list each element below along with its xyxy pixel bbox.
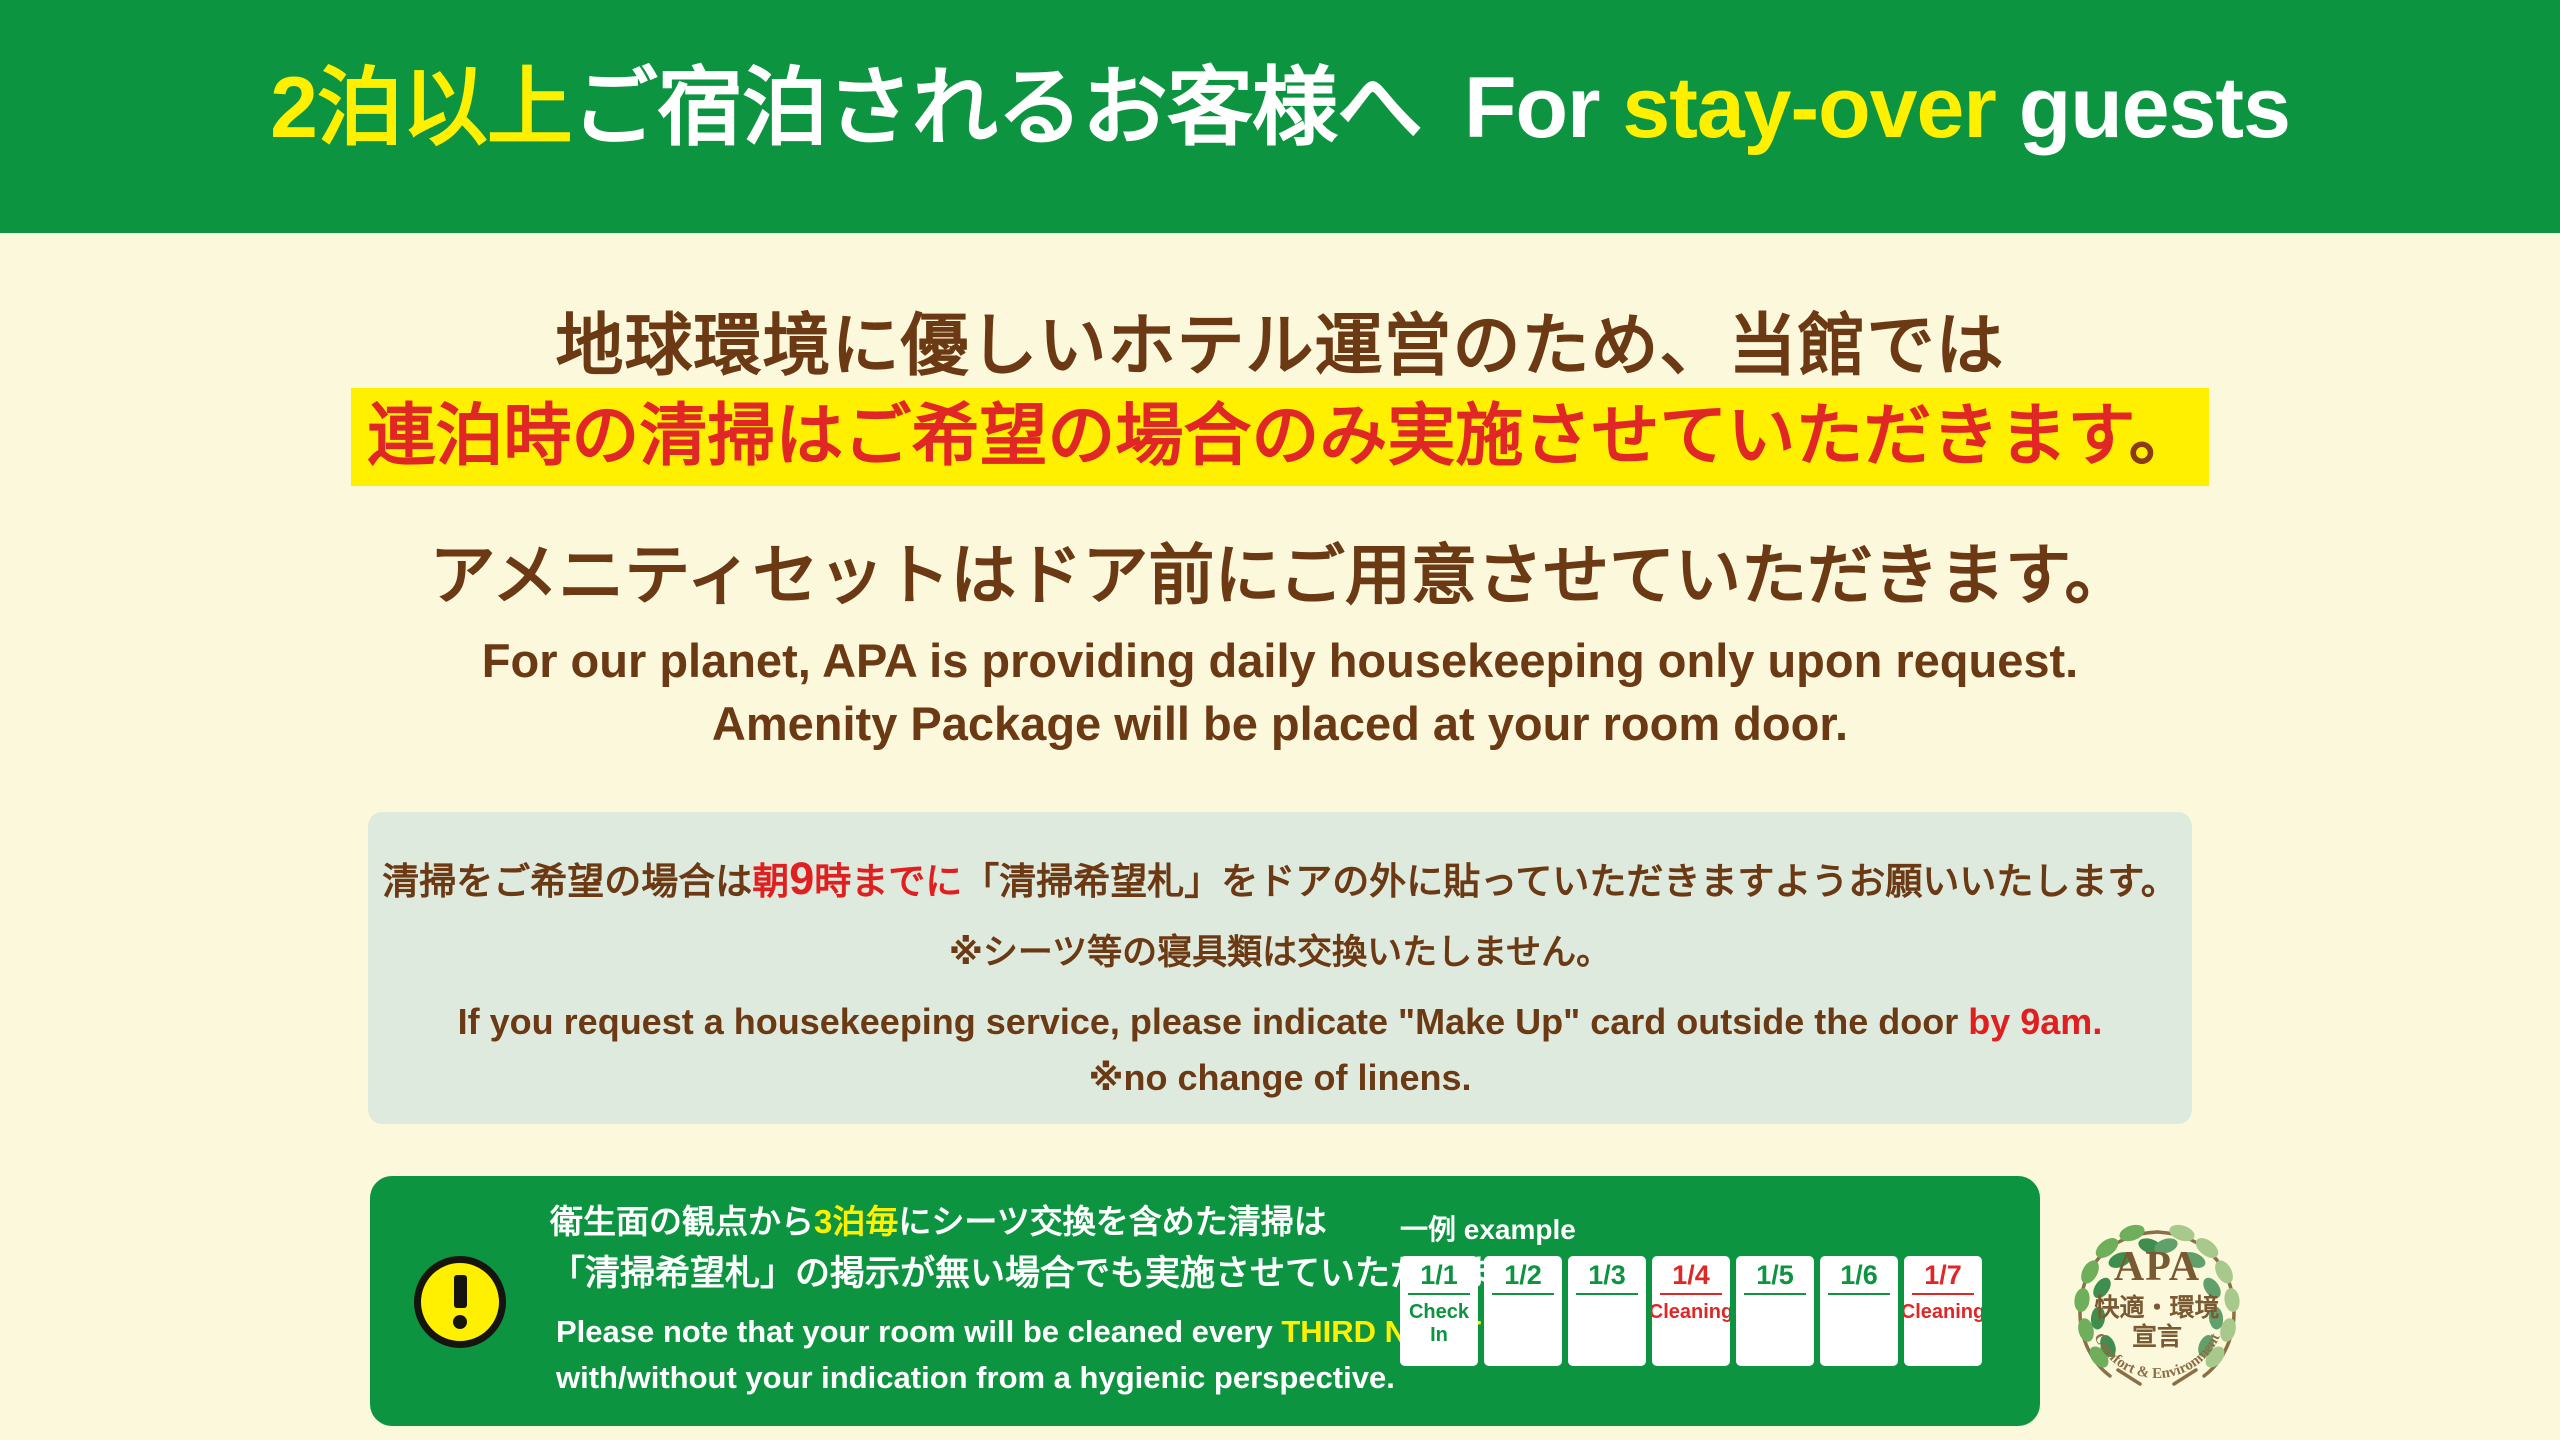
calendar-grid: 1/1CheckIn1/21/31/4Cleaning1/51/61/7Clea… — [1400, 1256, 1982, 1366]
calendar-cell-divider — [1744, 1293, 1806, 1295]
header-en-highlight: stay-over — [1622, 60, 1995, 156]
apa-eco-logo: APA 快適・環境 宣言 Comfort & Environment — [2062, 1212, 2252, 1402]
main-jp-highlight: 連泊時の清掃はご希望の場合のみ実施させていただきます。 — [351, 388, 2208, 486]
calendar-cell-date: 1/2 — [1504, 1261, 1542, 1289]
page-title: 2泊以上ご宿泊されるお客様へFor stay-over guests — [270, 65, 2290, 151]
calendar-cell-divider — [1492, 1293, 1554, 1295]
calendar-cell-divider — [1576, 1293, 1638, 1295]
exclamation-dot — [453, 1315, 467, 1329]
info-en-main: If you request a housekeeping service, p… — [458, 1001, 1969, 1042]
header-jp-rest: ご宿泊されるお客様へ — [572, 60, 1422, 156]
warning-exclamation-icon — [414, 1256, 506, 1348]
main-en-block: For our planet, APA is providing daily h… — [0, 630, 2560, 755]
main-highlight-row: 連泊時の清掃はご希望の場合のみ実施させていただきます。 — [0, 388, 2560, 486]
calendar-cell-divider — [1828, 1293, 1890, 1295]
info-jp-red-time: 時までに — [814, 861, 962, 902]
notice-jp-1-highlight: 3泊毎 — [814, 1203, 898, 1240]
info-en-note: ※no change of linens. — [368, 1057, 2192, 1099]
header-en-before: For — [1464, 60, 1622, 156]
main-jp-line-3: アメニティセットはドア前にご用意させていただきます。 — [0, 522, 2560, 618]
header-en-after: guests — [1996, 60, 2290, 156]
calendar-cell-date: 1/5 — [1756, 1261, 1794, 1289]
calendar-cell-date: 1/7 — [1924, 1261, 1962, 1289]
calendar-cell-date: 1/1 — [1420, 1261, 1458, 1289]
apa-logo-jp-line-2: 宣言 — [2132, 1322, 2182, 1351]
calendar-cell-date: 1/3 — [1588, 1261, 1626, 1289]
main-en-line-2: Amenity Package will be placed at your r… — [0, 693, 2560, 756]
calendar-cell-label: Cleaning — [1652, 1301, 1730, 1323]
calendar-cell: 1/3 — [1568, 1256, 1646, 1366]
main-jp-highlight-period: 。 — [2129, 398, 2197, 474]
calendar-caption: 一例 example — [1400, 1208, 1982, 1248]
calendar-cell: 1/4Cleaning — [1652, 1256, 1730, 1366]
info-en-line-1: If you request a housekeeping service, p… — [368, 1001, 2192, 1043]
exclamation-bar — [454, 1275, 467, 1308]
main-jp-line-1: 地球環境に優しいホテル運営のため、当館では — [0, 290, 2560, 389]
apa-logo-graphic: APA 快適・環境 宣言 Comfort & Environment — [2062, 1212, 2252, 1402]
notice-jp-1a: 衛生面の観点から — [550, 1203, 814, 1240]
calendar-cell-label: CheckIn — [1409, 1301, 1469, 1346]
info-jp-line-1: 清掃をご希望の場合は朝9時までに「清掃希望札」をドアの外に貼っていただきますよう… — [368, 854, 2192, 904]
info-jp-note: ※シーツ等の寝具類は交換いたしません。 — [368, 924, 2192, 975]
apa-logo-jp-line-1: 快適・環境 — [2094, 1293, 2219, 1322]
calendar-cell: 1/7Cleaning — [1904, 1256, 1982, 1366]
calendar-cell-divider — [1408, 1293, 1470, 1295]
notice-en-1a: Please note that your room will be clean… — [556, 1314, 1281, 1349]
info-jp-part-2: 「清掃希望札」をドアの外に貼っていただきますようお願いいたします。 — [962, 861, 2177, 902]
housekeeping-request-box: 清掃をご希望の場合は朝9時までに「清掃希望札」をドアの外に貼っていただきますよう… — [368, 812, 2192, 1124]
calendar-cell: 1/1CheckIn — [1400, 1256, 1478, 1366]
poster-root: 2泊以上ご宿泊されるお客様へFor stay-over guests 地球環境に… — [0, 0, 2560, 1440]
main-en-line-1: For our planet, APA is providing daily h… — [0, 630, 2560, 693]
calendar-cell: 1/2 — [1484, 1256, 1562, 1366]
calendar-cell-divider — [1660, 1293, 1722, 1295]
header-jp-highlight: 2泊以上 — [270, 60, 572, 156]
info-jp-red-nine: 9 — [789, 853, 814, 904]
calendar-cell-label: Cleaning — [1904, 1301, 1982, 1323]
calendar-cell-date: 1/4 — [1672, 1261, 1710, 1289]
apa-logo-brand: APA — [2114, 1244, 2200, 1290]
calendar-cell: 1/6 — [1820, 1256, 1898, 1366]
calendar-cell-date: 1/6 — [1840, 1261, 1878, 1289]
info-jp-part-1: 清掃をご希望の場合は — [382, 861, 752, 902]
header-band: 2泊以上ご宿泊されるお客様へFor stay-over guests — [0, 0, 2560, 233]
notice-jp-1b: にシーツ交換を含めた清掃は — [898, 1203, 1326, 1240]
calendar-cell: 1/5 — [1736, 1256, 1814, 1366]
info-en-red: by 9am. — [1968, 1001, 2102, 1042]
main-jp-highlight-red: 連泊時の清掃はご希望の場合のみ実施させていただきます — [367, 398, 2128, 474]
calendar-example: 一例 example 1/1CheckIn1/21/31/4Cleaning1/… — [1400, 1208, 1982, 1366]
info-jp-red-morning: 朝 — [752, 861, 789, 902]
calendar-cell-divider — [1912, 1293, 1974, 1295]
